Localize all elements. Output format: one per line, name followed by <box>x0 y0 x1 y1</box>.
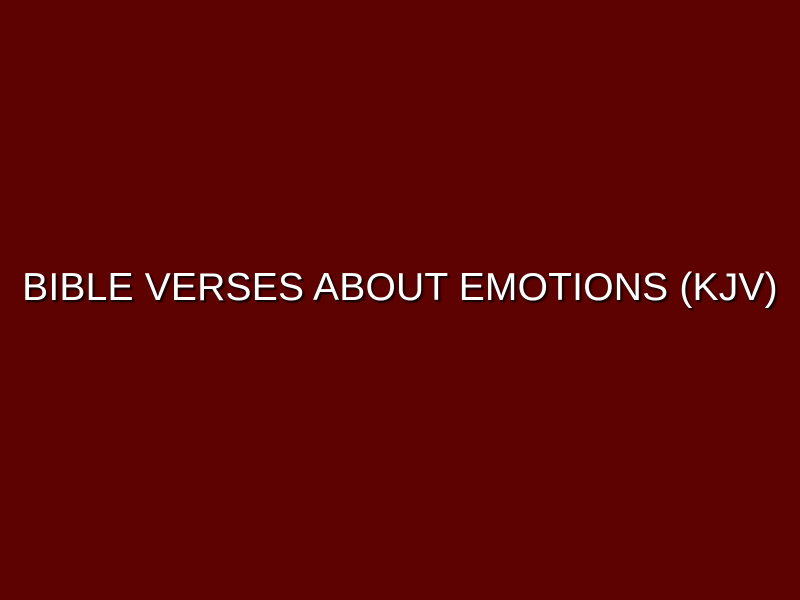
page-title: BIBLE VERSES ABOUT EMOTIONS (KJV) <box>22 268 778 307</box>
title-card: BIBLE VERSES ABOUT EMOTIONS (KJV) <box>0 0 800 600</box>
headline-container: BIBLE VERSES ABOUT EMOTIONS (KJV) <box>0 268 800 307</box>
